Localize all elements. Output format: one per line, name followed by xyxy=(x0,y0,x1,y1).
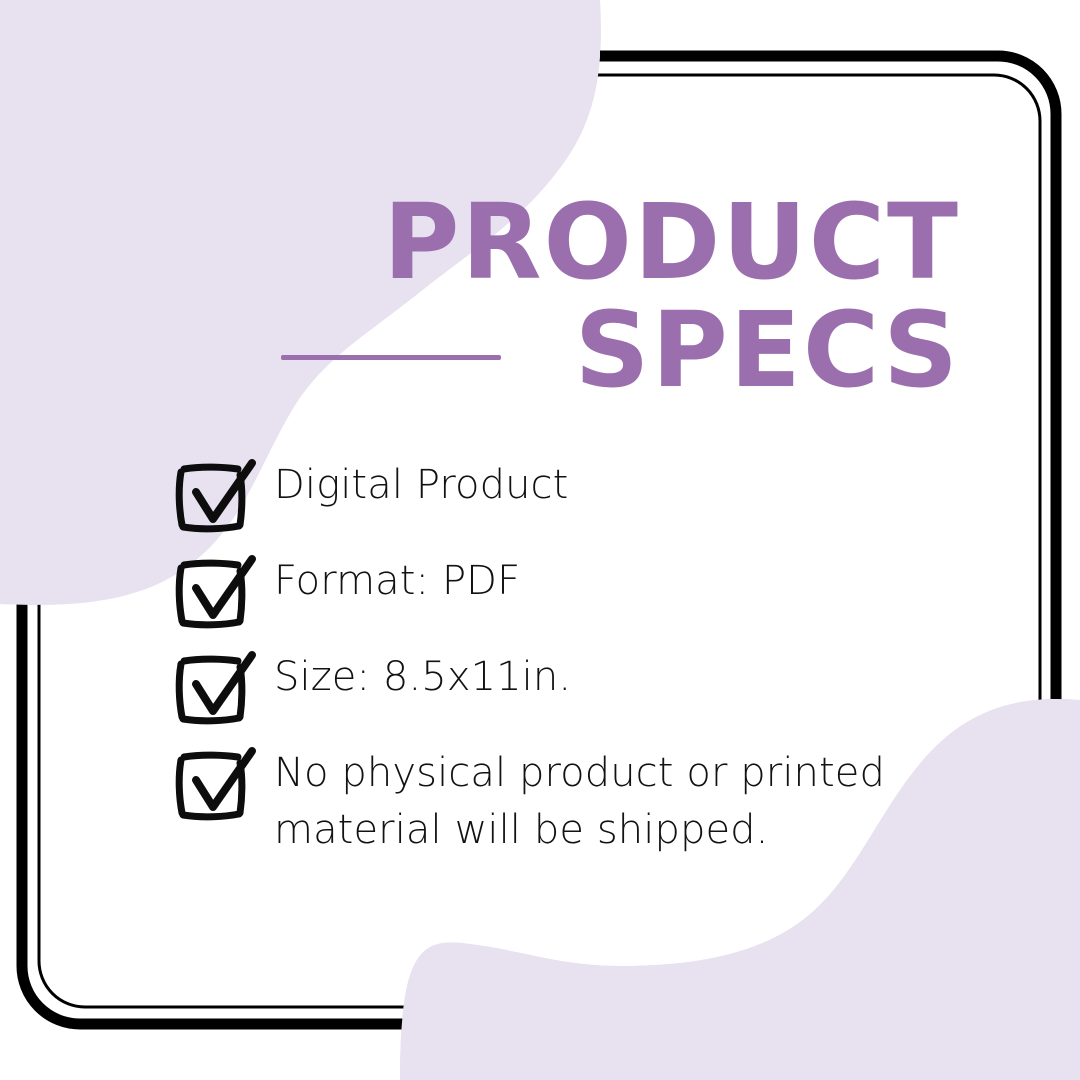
list-item: Digital Product xyxy=(172,455,972,533)
page-title: PRODUCT SPECS xyxy=(260,192,960,402)
product-specs-card: PRODUCT SPECS xyxy=(0,0,1080,1080)
list-item-label: Format: PDF xyxy=(274,551,520,610)
checkbox-checked-icon xyxy=(172,747,258,821)
list-item-label: No physical product or printed material … xyxy=(274,743,914,859)
checkbox-checked-icon xyxy=(172,555,258,629)
list-item-label: Size: 8.5x11in. xyxy=(274,647,571,706)
title-underline xyxy=(281,355,501,360)
list-item: Size: 8.5x11in. xyxy=(172,647,972,725)
spec-checklist: Digital Product Format: PDF xyxy=(172,455,972,859)
checkbox-checked-icon xyxy=(172,459,258,533)
list-item: Format: PDF xyxy=(172,551,972,629)
checkbox-checked-icon xyxy=(172,651,258,725)
card-content: PRODUCT SPECS xyxy=(0,0,1080,1080)
list-item: No physical product or printed material … xyxy=(172,743,972,859)
title-line-product: PRODUCT xyxy=(260,192,960,294)
list-item-label: Digital Product xyxy=(274,455,568,514)
title-line-specs: SPECS xyxy=(260,300,960,402)
